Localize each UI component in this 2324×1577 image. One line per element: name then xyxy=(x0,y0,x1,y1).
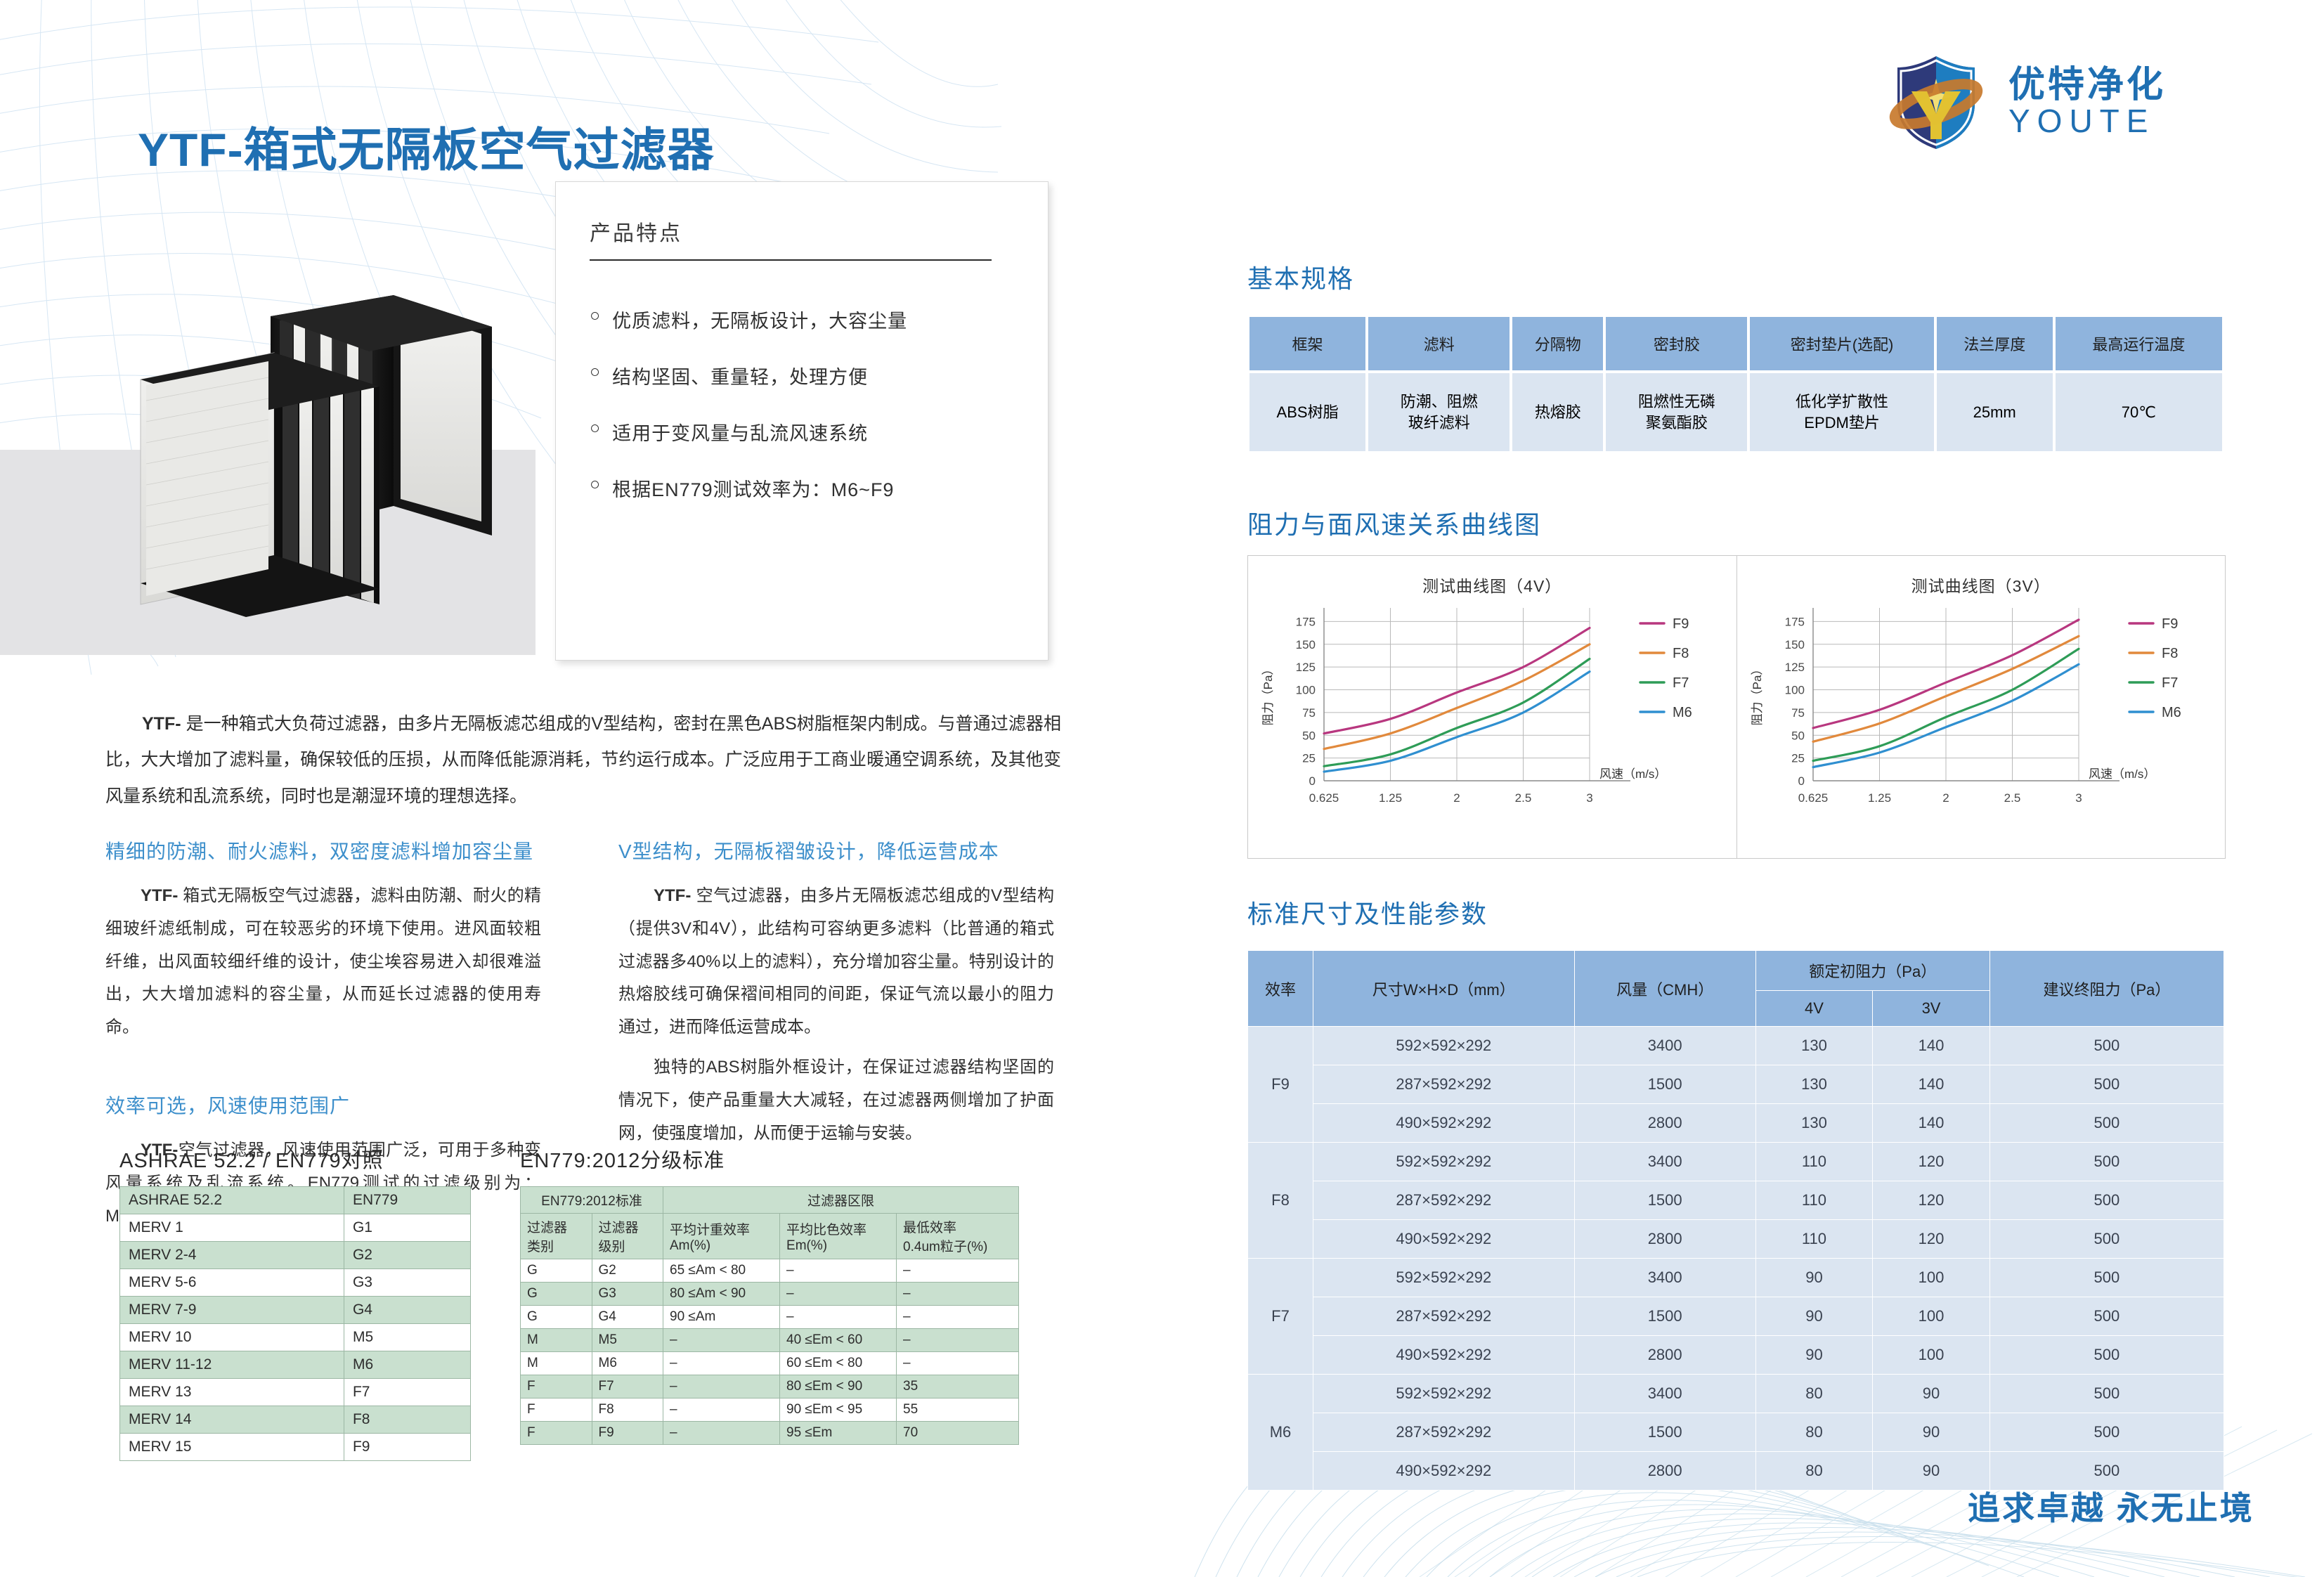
spec-section-heading: 基本规格 xyxy=(1247,259,1354,295)
svg-text:175: 175 xyxy=(1784,615,1804,628)
product-features-card: 产品特点 ○ 优质滤料，无隔板设计，大容尘量 ○ 结构坚固、重量轻，处理方便 ○… xyxy=(555,181,1049,661)
table-header-row: 框架滤料分隔物密封胶密封垫片(选配)法兰厚度最高运行温度 xyxy=(1249,316,2223,371)
table-cell: 1500 xyxy=(1574,1181,1755,1220)
table-cell: 500 xyxy=(1989,1413,2224,1452)
intro-paragraph: YTF- 是一种箱式大负荷过滤器，由多片无隔板滤芯组成的V型结构，密封在黑色AB… xyxy=(105,706,1061,815)
ashrae-table-block: ASHRAE 52.2 / EN779对照 ASHRAE 52.2EN779ME… xyxy=(119,1144,471,1461)
table-header-row: 过滤器类别过滤器级别平均计重效率Am(%)平均比色效率Em(%)最低效率0.4u… xyxy=(521,1214,1019,1259)
svg-text:125: 125 xyxy=(1784,661,1804,674)
svg-text:75: 75 xyxy=(1791,706,1805,720)
table-cell: – xyxy=(663,1375,780,1398)
table-cell: 592×592×292 xyxy=(1313,1143,1574,1181)
intro-brand: YTF- xyxy=(142,714,181,734)
table-cell: 60 ≤Em < 80 xyxy=(780,1352,897,1375)
table-cell: 3400 xyxy=(1574,1375,1755,1413)
table-cell: 287×592×292 xyxy=(1313,1065,1574,1104)
table-cell: F9 xyxy=(344,1434,470,1461)
table-row: F8592×592×2923400110120500 xyxy=(1248,1143,2224,1181)
header-4v: 4V xyxy=(1755,991,1873,1027)
table-header-cell: 密封胶 xyxy=(1605,316,1748,371)
table-row: MERV 7-9G4 xyxy=(120,1297,471,1324)
svg-text:阻力（Pa）: 阻力（Pa） xyxy=(1751,663,1764,726)
table-cell: G xyxy=(521,1259,592,1283)
table-cell: 110 xyxy=(1755,1181,1873,1220)
table-cell: 80 xyxy=(1755,1375,1873,1413)
table-cell: – xyxy=(897,1329,1019,1352)
resistance-charts-panel: 测试曲线图（4V） 02550751001251501750.6251.2522… xyxy=(1247,555,2226,859)
table-row: F9592×592×2923400130140500 xyxy=(1248,1027,2224,1065)
header-airflow: 风量（CMH） xyxy=(1574,951,1755,1027)
table-cell: 287×592×292 xyxy=(1313,1181,1574,1220)
table-cell: 2800 xyxy=(1574,1104,1755,1143)
logo-text-en: YOUTE xyxy=(2008,104,2166,138)
svg-text:风速（m/s）: 风速（m/s） xyxy=(2089,767,2155,781)
table-row: 287×592×292150090100500 xyxy=(1248,1297,2224,1336)
table-row: ABS树脂防潮、阻燃玻纤滤料热熔胶阻燃性无磷聚氨酯胶低化学扩散性EPDM垫片25… xyxy=(1249,372,2223,452)
table-row: FF8–90 ≤Em < 9555 xyxy=(521,1398,1019,1422)
table-cell: 热熔胶 xyxy=(1512,372,1604,452)
table-cell: 90 xyxy=(1755,1297,1873,1336)
table-cell: 1500 xyxy=(1574,1297,1755,1336)
table-cell: 35 xyxy=(897,1375,1019,1398)
table-cell: MERV 2-4 xyxy=(120,1242,344,1269)
circle-bullet-icon: ○ xyxy=(590,418,601,439)
table-row: MERV 11-12M6 xyxy=(120,1351,471,1379)
table-cell: 80 ≤Am < 90 xyxy=(663,1283,780,1306)
table-row: GG490 ≤Am–– xyxy=(521,1306,1019,1329)
table-cell: F xyxy=(521,1422,592,1445)
table-cell: 500 xyxy=(1989,1336,2224,1375)
table-cell: 490×592×292 xyxy=(1313,1104,1574,1143)
table-row: MERV 10M5 xyxy=(120,1324,471,1351)
features-list: ○ 优质滤料，无隔板设计，大容尘量 ○ 结构坚固、重量轻，处理方便 ○ 适用于变… xyxy=(590,306,1025,531)
header-size: 尺寸W×H×D（mm） xyxy=(1313,951,1574,1027)
svg-text:3: 3 xyxy=(2075,791,2082,805)
table-cell: – xyxy=(780,1259,897,1283)
table-header-cell: 过滤器类别 xyxy=(521,1214,592,1259)
header-efficiency: 效率 xyxy=(1248,951,1313,1027)
table-cell: MERV 5-6 xyxy=(120,1269,344,1297)
table-cell: 1500 xyxy=(1574,1065,1755,1104)
feature-text: 根据EN779测试效率为：M6~F9 xyxy=(612,474,894,502)
table-cell: 130 xyxy=(1755,1104,1873,1143)
table-header-cell: 法兰厚度 xyxy=(1936,316,2053,371)
table-row: MERV 14F8 xyxy=(120,1406,471,1434)
table-group-header-row: EN779:2012标准过滤器区限 xyxy=(521,1187,1019,1214)
table-cell: 490×592×292 xyxy=(1313,1220,1574,1259)
table-cell: 500 xyxy=(1989,1220,2224,1259)
brochure-page: YTF-箱式无隔板空气过滤器 优特净化 YOUTE xyxy=(0,0,2324,1577)
table-cell: 65 ≤Am < 80 xyxy=(663,1259,780,1283)
table-cell: 130 xyxy=(1755,1027,1873,1065)
table-cell: M xyxy=(521,1352,592,1375)
table-cell: 140 xyxy=(1873,1065,1990,1104)
intro-text: 是一种箱式大负荷过滤器，由多片无隔板滤芯组成的V型结构，密封在黑色ABS树脂框架… xyxy=(105,714,1061,806)
table-header-cell: 密封垫片(选配) xyxy=(1749,316,1934,371)
section-heading-filter-media: 精细的防潮、耐火滤料，双密度滤料增加容尘量 xyxy=(105,836,541,864)
table-header-cell: 滤料 xyxy=(1368,316,1510,371)
table-header-row: ASHRAE 52.2EN779 xyxy=(120,1187,471,1214)
table-cell: F8 xyxy=(344,1406,470,1434)
table-header-row: 效率尺寸W×H×D（mm）风量（CMH）额定初阻力（Pa）建议终阻力（Pa） xyxy=(1248,951,2224,991)
svg-text:25: 25 xyxy=(1791,752,1805,765)
section-body-abs-frame: 独特的ABS树脂外框设计，在保证过滤器结构坚固的情况下，使产品重量大大减轻，在过… xyxy=(618,1051,1054,1150)
efficiency-cell: F7 xyxy=(1248,1259,1313,1375)
circle-bullet-icon: ○ xyxy=(590,362,601,382)
table-cell: 3400 xyxy=(1574,1027,1755,1065)
product-photo xyxy=(98,274,534,640)
table-cell: 3400 xyxy=(1574,1259,1755,1297)
svg-text:50: 50 xyxy=(1302,729,1316,742)
svg-text:F8: F8 xyxy=(1673,646,1689,661)
en779-classification-table: EN779:2012标准过滤器区限过滤器类别过滤器级别平均计重效率Am(%)平均… xyxy=(520,1186,1019,1445)
table-row: MERV 15F9 xyxy=(120,1434,471,1461)
table-cell: 90 xyxy=(1873,1375,1990,1413)
svg-text:0.625: 0.625 xyxy=(1798,791,1828,805)
table-header-cell: 框架 xyxy=(1249,316,1366,371)
table-row: MM5–40 ≤Em < 60– xyxy=(521,1329,1019,1352)
table-cell: – xyxy=(897,1259,1019,1283)
table-cell: 592×592×292 xyxy=(1313,1027,1574,1065)
table-cell: MERV 15 xyxy=(120,1434,344,1461)
feature-text: 结构坚固、重量轻，处理方便 xyxy=(612,362,868,389)
table-cell: G2 xyxy=(344,1242,470,1269)
table-cell: 低化学扩散性EPDM垫片 xyxy=(1749,372,1934,452)
logo-text-cn: 优特净化 xyxy=(2008,66,2166,105)
svg-text:150: 150 xyxy=(1784,638,1804,651)
table-row: 490×592×2922800110120500 xyxy=(1248,1220,2224,1259)
table-cell: G xyxy=(521,1283,592,1306)
svg-text:风速（m/s）: 风速（m/s） xyxy=(1599,767,1666,781)
chart-3v: 测试曲线图（3V） 02550751001251501750.6251.2522… xyxy=(1737,556,2226,858)
svg-text:125: 125 xyxy=(1296,661,1316,674)
svg-text:25: 25 xyxy=(1302,752,1316,765)
table-cell: 90 ≤Em < 95 xyxy=(780,1398,897,1422)
features-heading: 产品特点 xyxy=(590,216,682,247)
table-cell: F7 xyxy=(344,1379,470,1406)
table-row: MERV 5-6G3 xyxy=(120,1269,471,1297)
table-cell: F8 xyxy=(592,1398,663,1422)
table-cell: 500 xyxy=(1989,1065,2224,1104)
section-heading-efficiency: 效率可选，风速使用范围广 xyxy=(105,1091,541,1119)
table-cell: 500 xyxy=(1989,1259,2224,1297)
table-cell: 140 xyxy=(1873,1027,1990,1065)
svg-text:F8: F8 xyxy=(2162,646,2178,661)
svg-text:F9: F9 xyxy=(2162,616,2178,632)
table-cell: 110 xyxy=(1755,1143,1873,1181)
ashrae-comparison-table: ASHRAE 52.2EN779MERV 1G1MERV 2-4G2MERV 5… xyxy=(119,1186,471,1461)
efficiency-cell: M6 xyxy=(1248,1375,1313,1491)
feature-text: 优质滤料，无隔板设计，大容尘量 xyxy=(612,306,907,333)
table-cell: MERV 11-12 xyxy=(120,1351,344,1379)
efficiency-cell: F9 xyxy=(1248,1027,1313,1143)
svg-text:2: 2 xyxy=(1453,791,1460,805)
body-text: 箱式无隔板空气过滤器，滤料由防潮、耐火的精细玻纤滤纸制成，可在较恶劣的环境下使用… xyxy=(105,886,541,1037)
table-cell: 1500 xyxy=(1574,1413,1755,1452)
svg-text:阻力（Pa）: 阻力（Pa） xyxy=(1261,663,1275,726)
table-cell: 500 xyxy=(1989,1375,2224,1413)
table-cell: G xyxy=(521,1306,592,1329)
table-cell: 90 xyxy=(1873,1413,1990,1452)
table-cell: 100 xyxy=(1873,1336,1990,1375)
table-header-cell: 平均计重效率Am(%) xyxy=(663,1214,780,1259)
table-row: MM6–60 ≤Em < 80– xyxy=(521,1352,1019,1375)
header-initial-resistance: 额定初阻力（Pa） xyxy=(1755,951,1989,991)
table-header-cell: 最低效率0.4um粒子(%) xyxy=(897,1214,1019,1259)
table-row: MERV 2-4G2 xyxy=(120,1242,471,1269)
table-cell: G3 xyxy=(344,1269,470,1297)
table-row: F7592×592×292340090100500 xyxy=(1248,1259,2224,1297)
table-cell: 500 xyxy=(1989,1027,2224,1065)
table-cell: G3 xyxy=(592,1283,663,1306)
table-cell: G4 xyxy=(344,1297,470,1324)
performance-table: 效率尺寸W×H×D（mm）风量（CMH）额定初阻力（Pa）建议终阻力（Pa）4V… xyxy=(1247,950,2224,1491)
circle-bullet-icon: ○ xyxy=(590,474,601,495)
table-header-cell: 过滤器区限 xyxy=(663,1187,1019,1214)
table-cell: 100 xyxy=(1873,1259,1990,1297)
svg-text:75: 75 xyxy=(1302,706,1316,720)
svg-text:100: 100 xyxy=(1784,684,1804,697)
table-row: 287×592×2921500130140500 xyxy=(1248,1065,2224,1104)
table-header-cell: EN779 xyxy=(344,1187,470,1214)
svg-text:150: 150 xyxy=(1296,638,1316,651)
table-cell: 80 xyxy=(1755,1413,1873,1452)
table-cell: – xyxy=(663,1329,780,1352)
table-cell: 120 xyxy=(1873,1143,1990,1181)
table-cell: M xyxy=(521,1329,592,1352)
svg-text:F7: F7 xyxy=(2162,675,2178,691)
svg-text:2: 2 xyxy=(1942,791,1949,805)
table-row: 490×592×2922800130140500 xyxy=(1248,1104,2224,1143)
table-cell: 287×592×292 xyxy=(1313,1413,1574,1452)
table-row: 287×592×29215008090500 xyxy=(1248,1413,2224,1452)
company-logo: 优特净化 YOUTE xyxy=(1883,49,2166,155)
svg-text:F9: F9 xyxy=(1673,616,1689,632)
features-divider xyxy=(590,259,992,261)
table-cell: 287×592×292 xyxy=(1313,1297,1574,1336)
ashrae-table-title: ASHRAE 52.2 / EN779对照 xyxy=(119,1144,471,1174)
table-cell: – xyxy=(663,1398,780,1422)
table-cell: – xyxy=(663,1352,780,1375)
table-row: GG380 ≤Am < 90–– xyxy=(521,1283,1019,1306)
brand-mark: YTF- xyxy=(141,886,178,905)
table-cell: 90 ≤Am xyxy=(663,1306,780,1329)
table-cell: 490×592×292 xyxy=(1313,1452,1574,1491)
table-cell: 500 xyxy=(1989,1104,2224,1143)
performance-table-wrapper: 效率尺寸W×H×D（mm）风量（CMH）额定初阻力（Pa）建议终阻力（Pa）4V… xyxy=(1247,950,2224,1491)
table-cell: 120 xyxy=(1873,1181,1990,1220)
shield-logo-icon xyxy=(1883,49,1989,155)
table-cell: 55 xyxy=(897,1398,1019,1422)
svg-text:2.5: 2.5 xyxy=(2004,791,2020,805)
table-cell: ABS树脂 xyxy=(1249,372,1366,452)
table-cell: – xyxy=(897,1352,1019,1375)
table-cell: M6 xyxy=(592,1352,663,1375)
table-cell: 2800 xyxy=(1574,1220,1755,1259)
table-cell: M5 xyxy=(344,1324,470,1351)
perf-section-heading: 标准尺寸及性能参数 xyxy=(1247,894,1488,930)
feature-text: 适用于变风量与乱流风速系统 xyxy=(612,418,868,446)
table-header-cell: 过滤器级别 xyxy=(592,1214,663,1259)
table-cell: F xyxy=(521,1375,592,1398)
table-cell: – xyxy=(663,1422,780,1445)
table-cell: – xyxy=(897,1283,1019,1306)
table-cell: MERV 10 xyxy=(120,1324,344,1351)
table-cell: – xyxy=(780,1306,897,1329)
table-cell: 140 xyxy=(1873,1104,1990,1143)
table-cell: 70 xyxy=(897,1422,1019,1445)
table-cell: MERV 14 xyxy=(120,1406,344,1434)
table-row: MERV 1G1 xyxy=(120,1214,471,1242)
table-cell: 70℃ xyxy=(2055,372,2223,452)
table-row: MERV 13F7 xyxy=(120,1379,471,1406)
list-item: ○ 结构坚固、重量轻，处理方便 xyxy=(590,362,1025,389)
table-cell: M5 xyxy=(592,1329,663,1352)
table-cell: 2800 xyxy=(1574,1452,1755,1491)
table-cell: 592×592×292 xyxy=(1313,1259,1574,1297)
table-cell: 592×592×292 xyxy=(1313,1375,1574,1413)
section-body-filter-media: YTF- 箱式无隔板空气过滤器，滤料由防潮、耐火的精细玻纤滤纸制成，可在较恶劣的… xyxy=(105,880,541,1044)
list-item: ○ 优质滤料，无隔板设计，大容尘量 xyxy=(590,306,1025,333)
en779-table-title: EN779:2012分级标准 xyxy=(520,1144,1019,1174)
table-cell: MERV 13 xyxy=(120,1379,344,1406)
table-cell: 110 xyxy=(1755,1220,1873,1259)
table-cell: 500 xyxy=(1989,1297,2224,1336)
header-3v: 3V xyxy=(1873,991,1990,1027)
table-header-cell: 最高运行温度 xyxy=(2055,316,2223,371)
svg-text:3: 3 xyxy=(1586,791,1592,805)
svg-text:175: 175 xyxy=(1296,615,1316,628)
table-cell: MERV 1 xyxy=(120,1214,344,1242)
table-row: GG265 ≤Am < 80–– xyxy=(521,1259,1019,1283)
header-final-resistance: 建议终阻力（Pa） xyxy=(1989,951,2224,1027)
table-cell: – xyxy=(897,1306,1019,1329)
chart-4v: 测试曲线图（4V） 02550751001251501750.6251.2522… xyxy=(1248,556,1736,858)
table-cell: 90 xyxy=(1755,1259,1873,1297)
table-cell: MERV 7-9 xyxy=(120,1297,344,1324)
table-cell: – xyxy=(780,1283,897,1306)
table-cell: G2 xyxy=(592,1259,663,1283)
table-cell: 500 xyxy=(1989,1181,2224,1220)
right-text-column: V型结构，无隔板褶皱设计，降低运营成本 YTF- 空气过滤器，由多片无隔板滤芯组… xyxy=(618,836,1054,1157)
table-row: 287×592×2921500110120500 xyxy=(1248,1181,2224,1220)
chart-section-heading: 阻力与面风速关系曲线图 xyxy=(1247,505,1541,541)
svg-text:M6: M6 xyxy=(1673,705,1692,720)
table-row: FF7–80 ≤Em < 9035 xyxy=(521,1375,1019,1398)
en779-table-block: EN779:2012分级标准 EN779:2012标准过滤器区限过滤器类别过滤器… xyxy=(520,1144,1019,1445)
table-header-cell: EN779:2012标准 xyxy=(521,1187,663,1214)
table-cell: M6 xyxy=(344,1351,470,1379)
list-item: ○ 适用于变风量与乱流风速系统 xyxy=(590,418,1025,446)
svg-text:2.5: 2.5 xyxy=(1515,791,1532,805)
svg-text:M6: M6 xyxy=(2162,705,2181,720)
table-cell: 3400 xyxy=(1574,1143,1755,1181)
basic-spec-table: 框架滤料分隔物密封胶密封垫片(选配)法兰厚度最高运行温度 ABS树脂防潮、阻燃玻… xyxy=(1247,315,2224,453)
table-cell: F7 xyxy=(592,1375,663,1398)
table-cell: 阻燃性无磷聚氨酯胶 xyxy=(1605,372,1748,452)
table-cell: 90 xyxy=(1755,1336,1873,1375)
chart-4v-svg: 02550751001251501750.6251.2522.53阻力（Pa）风… xyxy=(1248,592,1736,845)
table-cell: 80 xyxy=(1755,1452,1873,1491)
svg-text:0: 0 xyxy=(1798,774,1804,788)
table-cell: 40 ≤Em < 60 xyxy=(780,1329,897,1352)
circle-bullet-icon: ○ xyxy=(590,306,601,326)
table-cell: F9 xyxy=(592,1422,663,1445)
svg-text:1.25: 1.25 xyxy=(1379,791,1402,805)
svg-text:50: 50 xyxy=(1791,729,1805,742)
table-cell: F xyxy=(521,1398,592,1422)
table-cell: 120 xyxy=(1873,1220,1990,1259)
table-cell: 100 xyxy=(1873,1297,1990,1336)
table-cell: 130 xyxy=(1755,1065,1873,1104)
table-cell: 490×592×292 xyxy=(1313,1336,1574,1375)
table-row: M6592×592×29234008090500 xyxy=(1248,1375,2224,1413)
section-heading-v-structure: V型结构，无隔板褶皱设计，降低运营成本 xyxy=(618,836,1054,864)
table-cell: 25mm xyxy=(1936,372,2053,452)
table-cell: 500 xyxy=(1989,1143,2224,1181)
table-cell: G4 xyxy=(592,1306,663,1329)
footer-slogan: 追求卓越 永无止境 xyxy=(1968,1483,2254,1529)
svg-text:100: 100 xyxy=(1296,684,1316,697)
svg-text:0.625: 0.625 xyxy=(1309,791,1339,805)
section-body-v-structure: YTF- 空气过滤器，由多片无隔板滤芯组成的V型结构（提供3V和4V），此结构可… xyxy=(618,880,1054,1044)
svg-text:0: 0 xyxy=(1309,774,1316,788)
page-title: YTF-箱式无隔板空气过滤器 xyxy=(138,112,715,180)
table-cell: 2800 xyxy=(1574,1336,1755,1375)
basic-spec-table-wrapper: 框架滤料分隔物密封胶密封垫片(选配)法兰厚度最高运行温度 ABS树脂防潮、阻燃玻… xyxy=(1247,315,2224,453)
chart-3v-svg: 02550751001251501750.6251.2522.53阻力（Pa）风… xyxy=(1737,592,2225,845)
table-header-cell: 分隔物 xyxy=(1512,316,1604,371)
efficiency-cell: F8 xyxy=(1248,1143,1313,1259)
table-header-cell: ASHRAE 52.2 xyxy=(120,1187,344,1214)
svg-text:F7: F7 xyxy=(1673,675,1689,691)
table-cell: G1 xyxy=(344,1214,470,1242)
table-cell: 95 ≤Em xyxy=(780,1422,897,1445)
body-text: 空气过滤器，由多片无隔板滤芯组成的V型结构（提供3V和4V），此结构可容纳更多滤… xyxy=(618,886,1054,1037)
table-header-cell: 平均比色效率Em(%) xyxy=(780,1214,897,1259)
svg-text:1.25: 1.25 xyxy=(1867,791,1890,805)
brand-mark: YTF- xyxy=(654,886,691,905)
table-row: 490×592×292280090100500 xyxy=(1248,1336,2224,1375)
table-row: FF9–95 ≤Em70 xyxy=(521,1422,1019,1445)
list-item: ○ 根据EN779测试效率为：M6~F9 xyxy=(590,474,1025,502)
table-cell: 80 ≤Em < 90 xyxy=(780,1375,897,1398)
table-cell: 防潮、阻燃玻纤滤料 xyxy=(1368,372,1510,452)
